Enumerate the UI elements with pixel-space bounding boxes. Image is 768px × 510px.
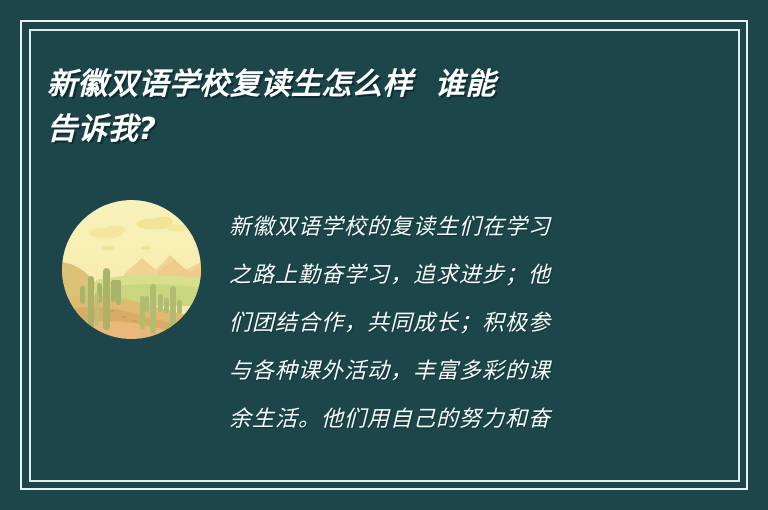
body-line-2: 之路上勤奋学习，追求进步；他 xyxy=(229,252,644,300)
body-line-4: 与各种课外活动，丰富多彩的课 xyxy=(229,348,644,396)
page-title-line-1: 新徽双语学校复读生怎么样 谁能 xyxy=(47,62,707,107)
poster-card: 新徽双语学校复读生怎么样 谁能 告诉我? xyxy=(0,0,768,510)
body-paragraph: 新徽双语学校的复读生们在学习 之路上勤奋学习，追求进步；他 们团结合作，共同成长… xyxy=(229,204,644,444)
page-title: 新徽双语学校复读生怎么样 谁能 告诉我? xyxy=(47,62,707,152)
desert-cactus-circle-thumbnail xyxy=(62,200,201,339)
body-line-3: 们团结合作，共同成长；积极参 xyxy=(229,300,644,348)
body-line-5: 余生活。他们用自己的努力和奋 xyxy=(229,396,644,444)
page-title-line-2: 告诉我? xyxy=(47,107,707,152)
body-line-1: 新徽双语学校的复读生们在学习 xyxy=(229,204,644,252)
